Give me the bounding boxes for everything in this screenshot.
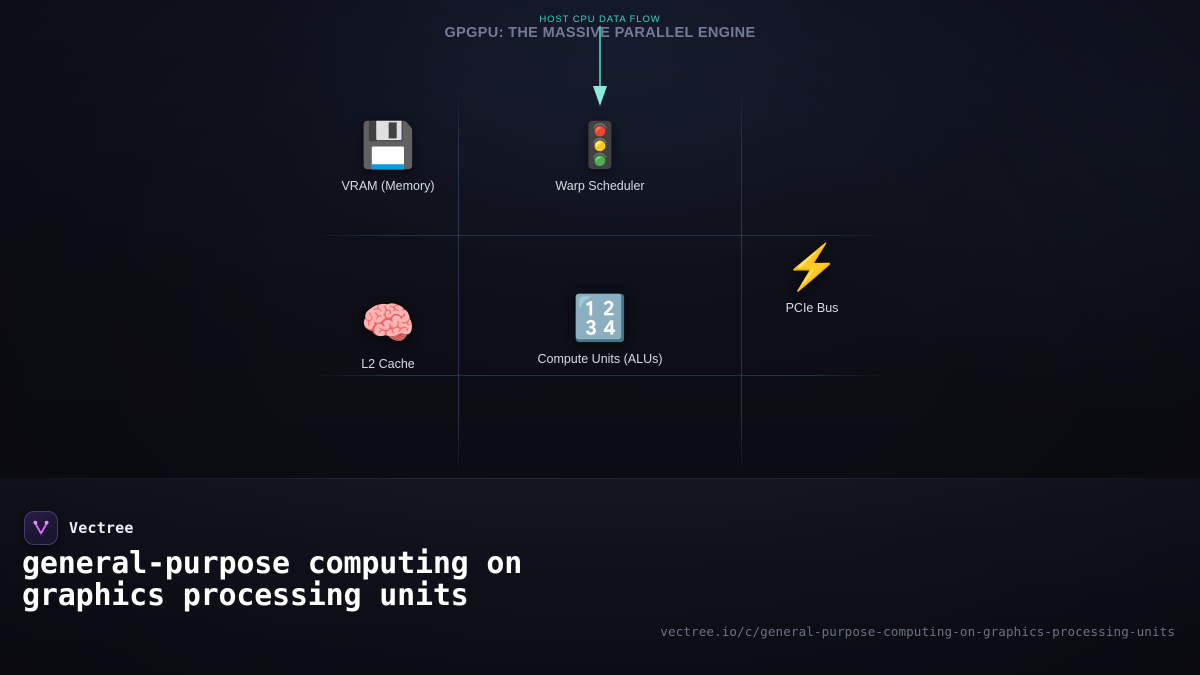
diagram-node-label: VRAM (Memory) bbox=[303, 179, 473, 193]
content-url: vectree.io/c/general-purpose-computing-o… bbox=[660, 624, 1175, 639]
diagram-node-warp-scheduler[interactable]: 🚦Warp Scheduler bbox=[515, 119, 685, 193]
grid-line-horizontal-1 bbox=[318, 375, 882, 376]
brand-row: Vectree bbox=[24, 511, 134, 545]
traffic-light-icon: 🚦 bbox=[515, 119, 685, 173]
input-numbers-icon: 🔢 bbox=[515, 292, 685, 346]
grid-line-horizontal-0 bbox=[318, 235, 882, 236]
high-voltage-icon: ⚡ bbox=[727, 241, 897, 295]
brand-name: Vectree bbox=[69, 519, 134, 537]
diagram-node-pcie-bus[interactable]: ⚡PCIe Bus bbox=[727, 241, 897, 315]
vectree-logo-glyph bbox=[31, 518, 51, 538]
diagram-node-label: Warp Scheduler bbox=[515, 179, 685, 193]
content-heading: general-purpose computing on graphics pr… bbox=[22, 548, 622, 612]
diagram-node-label: PCIe Bus bbox=[727, 301, 897, 315]
host-cpu-data-flow-arrow bbox=[586, 26, 614, 106]
data-flow-label: HOST CPU DATA FLOW bbox=[0, 14, 1200, 25]
diagram-node-vram[interactable]: 💾VRAM (Memory) bbox=[303, 119, 473, 193]
diagram-node-compute-units[interactable]: 🔢Compute Units (ALUs) bbox=[515, 292, 685, 366]
diagram-node-label: L2 Cache bbox=[303, 357, 473, 371]
brain-icon: 🧠 bbox=[303, 297, 473, 351]
vectree-logo bbox=[24, 511, 58, 545]
floppy-disk-icon: 💾 bbox=[303, 119, 473, 173]
diagram-node-label: Compute Units (ALUs) bbox=[515, 352, 685, 366]
diagram-node-l2-cache[interactable]: 🧠L2 Cache bbox=[303, 297, 473, 371]
